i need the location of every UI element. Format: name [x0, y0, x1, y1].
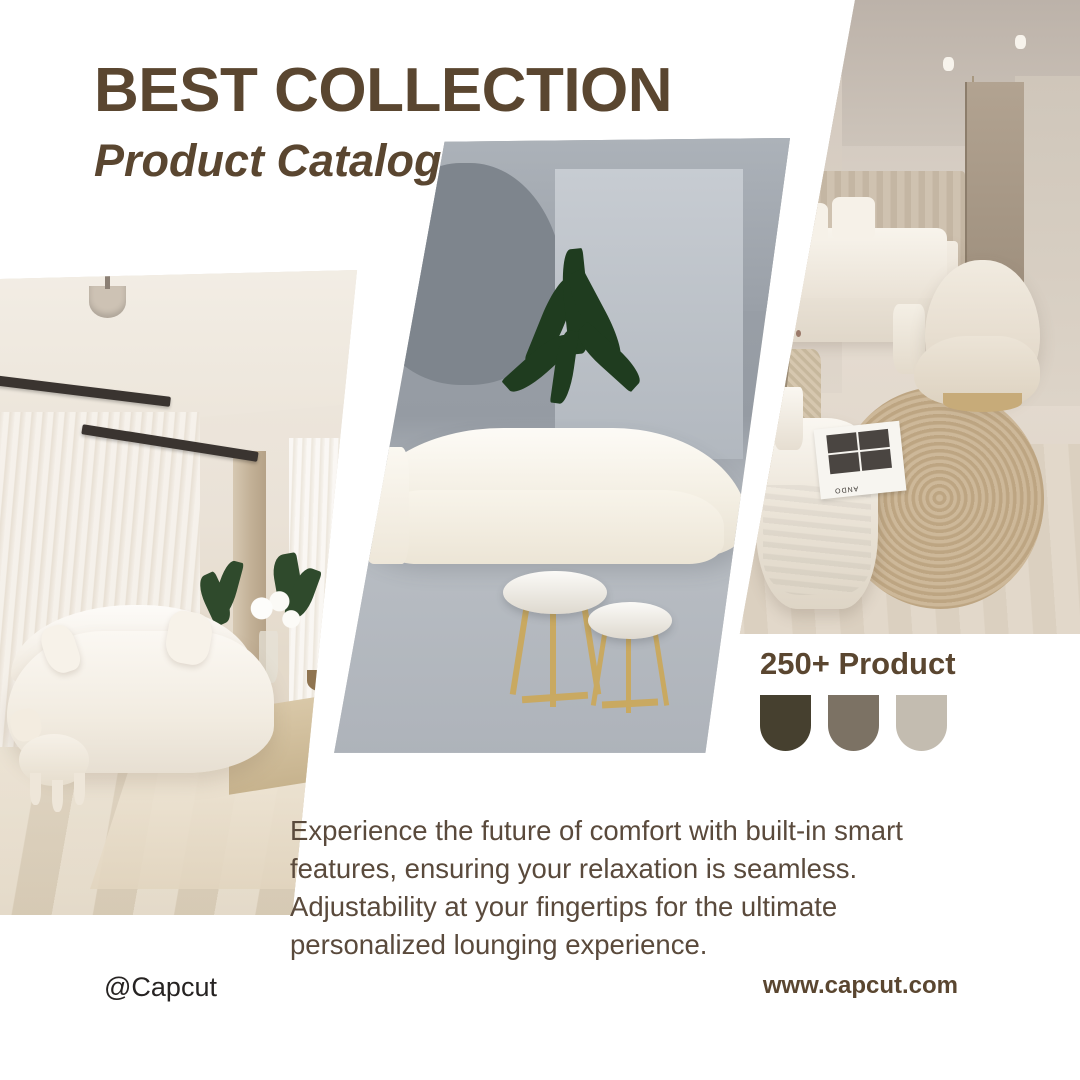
- sofa-arm: [358, 447, 410, 564]
- wooden-bowl: [307, 670, 340, 693]
- studio-scene: [320, 138, 790, 756]
- book-grid-cell: [827, 432, 859, 454]
- swatch-taupe[interactable]: [828, 695, 879, 751]
- swatch-dark-brown[interactable]: [760, 695, 811, 751]
- studio-sofa-photo: [320, 138, 790, 756]
- stool-leg: [52, 780, 63, 812]
- page-title: BEST COLLECTION: [94, 60, 672, 122]
- dried-bud: [792, 307, 798, 315]
- coffee-table-book: ANDO: [814, 420, 907, 498]
- dried-bud: [785, 317, 791, 325]
- marble-coffee-table-small: [588, 602, 673, 639]
- website-url[interactable]: www.capcut.com: [763, 972, 958, 1000]
- social-handle: @Capcut: [104, 972, 217, 1003]
- marble-coffee-table-large: [503, 571, 606, 614]
- pillow: [832, 197, 875, 238]
- spotlight-icon: [1015, 35, 1026, 49]
- pillow: [785, 203, 828, 241]
- page-subtitle: Product Catalog: [94, 138, 672, 183]
- product-catalog-poster: BEST COLLECTION Product Catalog: [0, 0, 1080, 1080]
- pendant-lamp: [89, 286, 126, 318]
- sofa-seat: [376, 490, 724, 564]
- product-count-label: 250+ Product: [760, 648, 956, 679]
- book-title-label: ANDO: [834, 484, 859, 493]
- table-leg: [550, 608, 556, 707]
- swatch-light-beige[interactable]: [896, 695, 947, 751]
- book-grid-cell: [861, 449, 893, 471]
- header-block: BEST COLLECTION Product Catalog: [94, 60, 672, 183]
- duvet: [774, 228, 947, 298]
- product-highlight-block: 250+ Product: [760, 648, 956, 751]
- stool-leg: [30, 773, 41, 805]
- book-grid-cell: [829, 452, 861, 474]
- bedroom-photo: ANDO: [720, 0, 1080, 634]
- color-swatch-row: [760, 695, 956, 751]
- ceramic-vase: [774, 387, 803, 450]
- spotlight-icon: [943, 57, 954, 71]
- bedroom-scene: ANDO: [720, 0, 1080, 634]
- book-cover-grid: [827, 429, 893, 474]
- stool-leg: [74, 773, 85, 805]
- book-grid-cell: [858, 429, 890, 451]
- description-text: Experience the future of comfort with bu…: [290, 812, 962, 964]
